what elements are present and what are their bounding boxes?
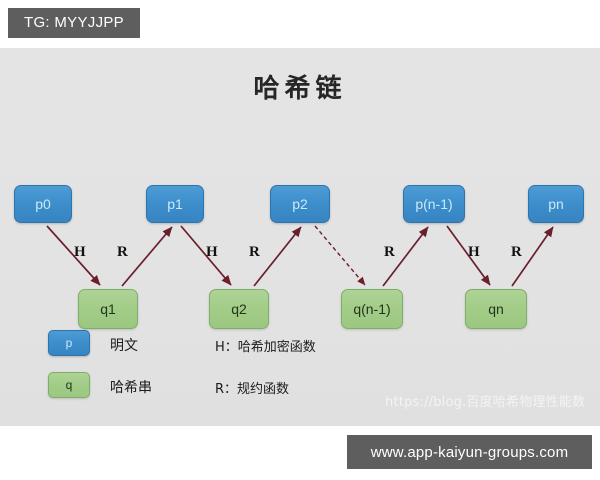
arrow-q1-to-p1	[122, 227, 172, 286]
node-label: p2	[292, 197, 308, 211]
arrow-q2-to-p2	[254, 227, 301, 286]
edge-label-r-1: R	[117, 245, 128, 260]
legend-definition-0: H：哈希加密函数	[215, 336, 316, 355]
p-node-pn1: p(n-1)	[403, 185, 465, 223]
legend-swatch-label: p	[66, 337, 73, 349]
node-label: q1	[100, 302, 116, 316]
edge-label-h-0: H	[74, 245, 86, 260]
legend-label-p: 明文	[110, 335, 138, 355]
legend-definition-1: R：规约函数	[215, 378, 289, 397]
node-label: q2	[231, 302, 247, 316]
node-label: pn	[548, 197, 564, 211]
node-label: p1	[167, 197, 183, 211]
edge-label-r-4: R	[384, 245, 395, 260]
arrow-p2-to-qn1	[315, 226, 365, 285]
legend-swatch-q: q	[48, 372, 90, 398]
node-label: p0	[35, 197, 51, 211]
p-node-p1: p1	[146, 185, 204, 223]
p-node-p2: p2	[270, 185, 330, 223]
site-url-bar: www.app-kaiyun-groups.com	[347, 435, 592, 469]
q-node-q2: q2	[209, 289, 269, 329]
q-node-q1: q1	[78, 289, 138, 329]
legend-swatch-p: p	[48, 330, 90, 356]
node-label: q(n-1)	[353, 302, 390, 316]
edge-label-r-6: R	[511, 245, 522, 260]
blog-watermark: https://blog.百度哈希物理性能数	[385, 391, 585, 410]
tg-handle-badge: TG: MYYJJPP	[8, 8, 140, 38]
p-node-pn: pn	[528, 185, 584, 223]
node-label: qn	[488, 302, 504, 316]
edge-label-h-5: H	[468, 245, 480, 260]
q-node-qn: qn	[465, 289, 527, 329]
hash-chain-diagram-panel: 哈希链 p0p1p2p(n-1)pnq1q2q(n-1)qn HRHRRHR p…	[0, 48, 600, 426]
legend-swatch-label: q	[66, 379, 73, 391]
node-label: p(n-1)	[415, 197, 452, 211]
p-node-p0: p0	[14, 185, 72, 223]
edge-label-h-2: H	[206, 245, 218, 260]
edge-label-r-3: R	[249, 245, 260, 260]
q-node-qn1: q(n-1)	[341, 289, 403, 329]
legend-label-q: 哈希串	[110, 377, 152, 397]
